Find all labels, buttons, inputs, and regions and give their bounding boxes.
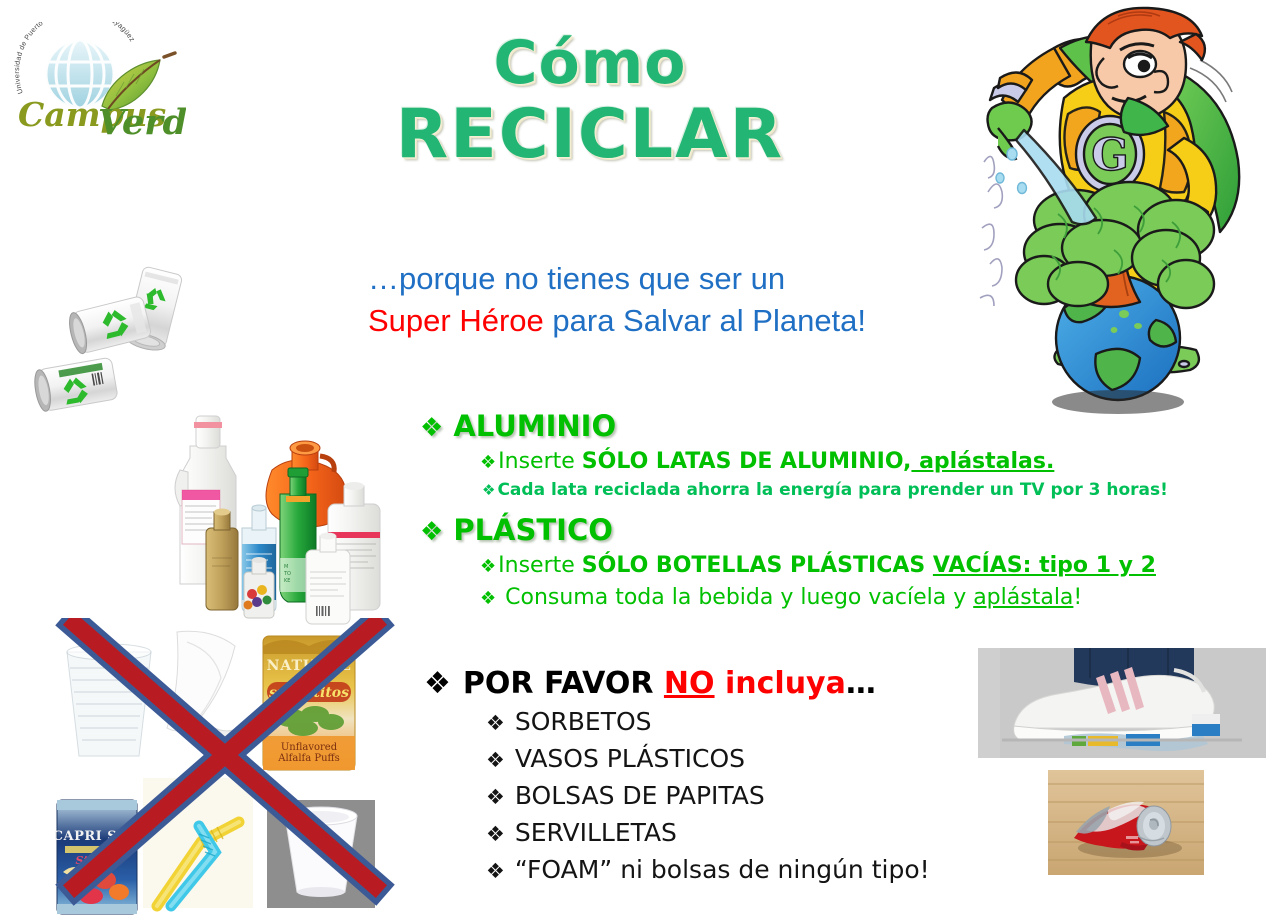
shoe-crushing-bottle-photo	[978, 648, 1266, 758]
svg-text:TO: TO	[283, 571, 291, 577]
heading-text: ALUMINIO	[453, 409, 616, 443]
aluminum-cans-photo	[32, 258, 212, 433]
plastico-item-2: ❖ Consuma toda la bebida y luego vacíela…	[480, 582, 1156, 614]
no-incluya-heading: ❖POR FAVOR NO incluya…	[424, 664, 930, 704]
heading-incluya: incluya	[715, 666, 846, 701]
no-item-label: BOLSAS DE PAPITAS	[515, 781, 765, 810]
no-item: ❖SERVILLETAS	[486, 815, 930, 852]
subtitle: …porque no tienes que ser un Super Héroe…	[368, 258, 988, 342]
item-bold-underline: VACÍAS: tipo 1 y 2	[933, 553, 1156, 578]
no-item: ❖VASOS PLÁSTICOS	[486, 741, 930, 778]
subtitle-rest: para Salvar al Planeta!	[544, 303, 866, 338]
item-plain: Consuma toda la bebida y luego vacíela y	[498, 585, 973, 610]
subtitle-line-2: Super Héroe para Salvar al Planeta!	[368, 300, 988, 342]
section-no-incluya: ❖POR FAVOR NO incluya… ❖SORBETOS ❖VASOS …	[424, 664, 930, 889]
prohibited-items-photo: NATURAL sproutitos Unflavored Alfalfa Pu…	[55, 618, 425, 918]
diamond-bullet-icon: ❖	[486, 859, 505, 883]
no-item: ❖“FOAM” ni bolsas de ningún tipo!	[486, 852, 930, 889]
diamond-bullet-icon: ❖	[486, 785, 505, 809]
no-item-label: SERVILLETAS	[515, 818, 677, 847]
svg-text:M: M	[284, 564, 288, 570]
item-underline: aplástala	[973, 585, 1073, 610]
no-item-label: VASOS PLÁSTICOS	[515, 744, 745, 773]
diamond-bullet-icon: ❖	[482, 481, 495, 499]
item-text: Cada lata reciclada ahorra la energía pa…	[497, 480, 1167, 500]
diamond-bullet-icon: ❖	[486, 748, 505, 772]
diamond-bullet-icon: ❖	[424, 666, 451, 701]
section-heading-plastico: ❖PLÁSTICO	[420, 512, 1156, 550]
item-plain: Inserte	[498, 449, 582, 474]
diamond-bullet-icon: ❖	[486, 711, 505, 735]
diamond-bullet-icon: ❖	[480, 556, 496, 577]
diamond-bullet-icon: ❖	[420, 517, 443, 547]
campus-verde-logo: Universidad de Puerto Rico - Recinto de …	[14, 22, 186, 142]
item-bold: SÓLO LATAS DE ALUMINIO,	[582, 449, 912, 474]
poster-canvas: Universidad de Puerto Rico - Recinto de …	[0, 0, 1267, 921]
page-title: Cómo RECICLAR	[380, 30, 800, 174]
no-item: ❖SORBETOS	[486, 704, 930, 741]
diamond-bullet-icon: ❖	[480, 588, 496, 609]
subtitle-line-1: …porque no tienes que ser un	[368, 258, 988, 300]
chip-bag-flavor-2: Alfalfa Puffs	[277, 753, 340, 764]
no-item-label: “FOAM” ni bolsas de ningún tipo!	[515, 855, 930, 884]
subtitle-super-heroe: Super Héroe	[368, 303, 544, 338]
title-line-reciclar: RECICLAR	[380, 96, 800, 174]
logo-word-verde: Verde	[98, 102, 186, 142]
aluminio-item-2: ❖Cada lata reciclada ahorra la energía p…	[482, 478, 1168, 502]
heading-ellipsis: …	[846, 666, 876, 701]
diamond-bullet-icon: ❖	[420, 413, 443, 443]
plastic-bottles-photo: MTOKE	[168, 408, 413, 633]
item-plain-after: !	[1073, 585, 1082, 610]
title-line-como: Cómo	[380, 30, 800, 96]
no-item-label: SORBETOS	[515, 707, 652, 736]
green-superhero-illustration: G	[968, 2, 1264, 432]
item-plain: Inserte	[498, 553, 582, 578]
plastico-item-1: ❖Inserte SÓLO BOTELLAS PLÁSTICAS VACÍAS:…	[480, 550, 1156, 582]
chip-bag-flavor-1: Unflavored	[281, 742, 338, 753]
svg-text:KE: KE	[284, 578, 290, 584]
diamond-bullet-icon: ❖	[480, 452, 496, 473]
aluminio-item-1: ❖Inserte SÓLO LATAS DE ALUMINIO, aplásta…	[480, 446, 1168, 478]
logo-graphic: Universidad de Puerto Rico - Recinto de …	[14, 22, 186, 142]
no-item: ❖BOLSAS DE PAPITAS	[486, 778, 930, 815]
item-bold-underline: aplástalas.	[911, 449, 1054, 474]
crushed-can-photo	[1048, 770, 1204, 875]
diamond-bullet-icon: ❖	[486, 822, 505, 846]
section-plastico: ❖PLÁSTICO ❖Inserte SÓLO BOTELLAS PLÁSTIC…	[420, 512, 1156, 614]
item-bold: SÓLO BOTELLAS PLÁSTICAS	[582, 553, 933, 578]
heading-no: NO	[664, 666, 715, 701]
heading-black: POR FAVOR	[463, 666, 664, 701]
heading-text: PLÁSTICO	[453, 513, 613, 547]
hero-emblem-letter: G	[1091, 130, 1129, 181]
